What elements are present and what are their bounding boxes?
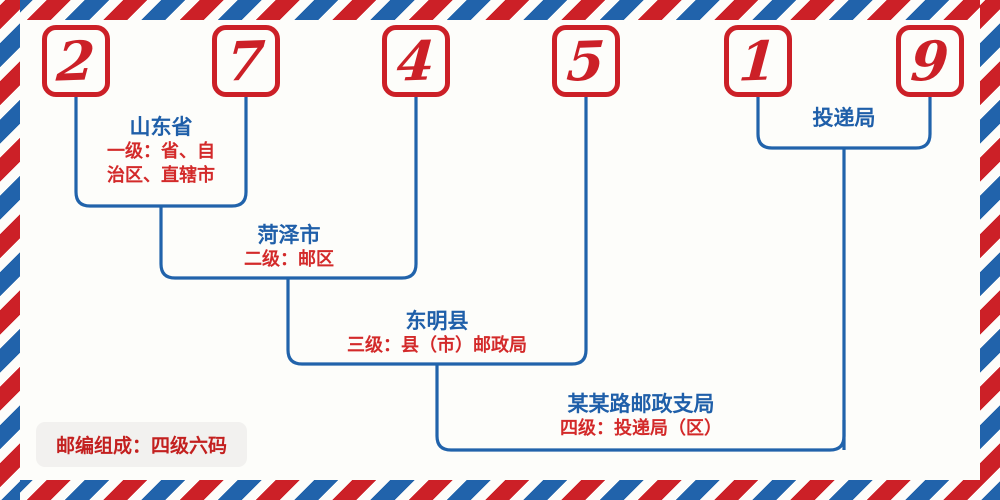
airmail-border-bottom — [0, 480, 1000, 500]
label-group-level-1: 山东省 一级：省、自 治区、直辖市 — [80, 114, 242, 187]
digit-card-2[interactable]: 7 — [212, 25, 280, 97]
airmail-stripes — [980, 0, 1000, 500]
digit-value-5: 1 — [737, 33, 778, 88]
level-4-title: 某某路邮政支局 — [443, 391, 839, 417]
level-4-subtitle: 四级：投递局（区） — [443, 417, 839, 440]
label-group-delivery-office: 投递局 — [762, 105, 926, 131]
digit-card-1[interactable]: 2 — [42, 25, 110, 97]
level-1-subtitle-line1: 一级：省、自 — [80, 140, 242, 163]
digit-card-3[interactable]: 4 — [382, 25, 450, 97]
label-group-level-3: 东明县 三级：县（市）邮政局 — [292, 308, 582, 358]
delivery-office-title: 投递局 — [762, 105, 926, 131]
digit-value-2: 7 — [225, 33, 266, 88]
airmail-stripes — [0, 480, 1000, 500]
digit-card-5[interactable]: 1 — [724, 25, 792, 97]
level-3-subtitle: 三级：县（市）邮政局 — [292, 334, 582, 357]
postcode-structure-diagram: 2 7 4 5 1 9 山东省 一级：省、自 治区、直辖市 菏泽市 二级：邮区 … — [0, 0, 1000, 500]
level-2-subtitle: 二级：邮区 — [165, 248, 413, 271]
airmail-border-left — [0, 0, 20, 500]
label-group-level-2: 菏泽市 二级：邮区 — [165, 222, 413, 272]
airmail-stripes — [0, 0, 20, 500]
digit-card-4[interactable]: 5 — [552, 25, 620, 97]
digit-value-4: 5 — [565, 33, 606, 88]
level-2-title: 菏泽市 — [165, 222, 413, 248]
legend-badge: 邮编组成：四级六码 — [36, 422, 247, 467]
airmail-border-top — [0, 0, 1000, 20]
digit-value-6: 9 — [909, 33, 950, 88]
label-group-level-4: 某某路邮政支局 四级：投递局（区） — [443, 391, 839, 441]
airmail-border-right — [980, 0, 1000, 500]
digit-value-1: 2 — [55, 33, 96, 88]
level-1-title: 山东省 — [80, 114, 242, 140]
level-3-title: 东明县 — [292, 308, 582, 334]
airmail-stripes — [0, 0, 1000, 20]
digit-value-3: 4 — [395, 33, 436, 88]
digit-card-6[interactable]: 9 — [896, 25, 964, 97]
level-1-subtitle-line2: 治区、直辖市 — [80, 164, 242, 187]
